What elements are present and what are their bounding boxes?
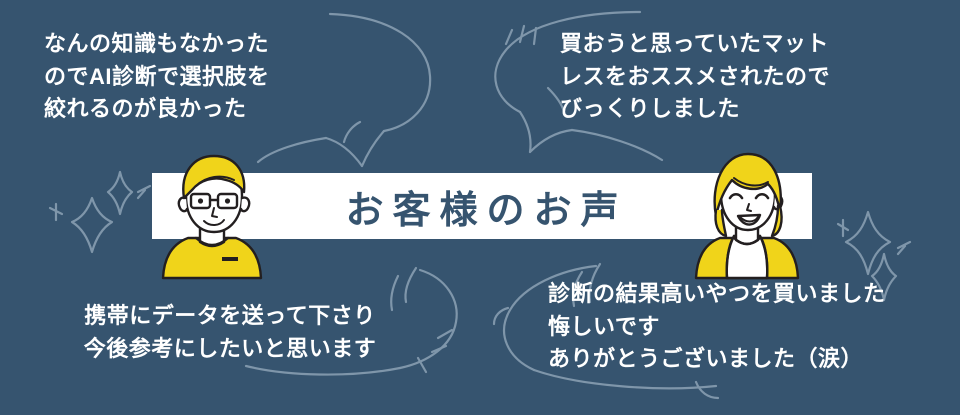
sparkle-cluster-left	[50, 172, 150, 252]
left-character-illustration	[160, 152, 264, 280]
testimonial-bottom-left: 携帯にデータを送って下さり 今後参考にしたいと思います	[40, 300, 420, 365]
testimonial-top-left: なんの知識もなかった のでAI診断で選択肢を 絞れるのが良かった	[44, 28, 384, 126]
testimonial-bottom-right: 診断の結果高いやつを買いました 悔しいです ありがとうございました（涙）	[548, 278, 948, 376]
right-character-illustration	[694, 150, 800, 280]
testimonial-top-right: 買おうと思っていたマット レスをおススメされたので びっくりしました	[560, 28, 920, 126]
customer-voice-banner: なんの知識もなかった のでAI診断で選択肢を 絞れるのが良かった 買おうと思って…	[0, 0, 960, 415]
